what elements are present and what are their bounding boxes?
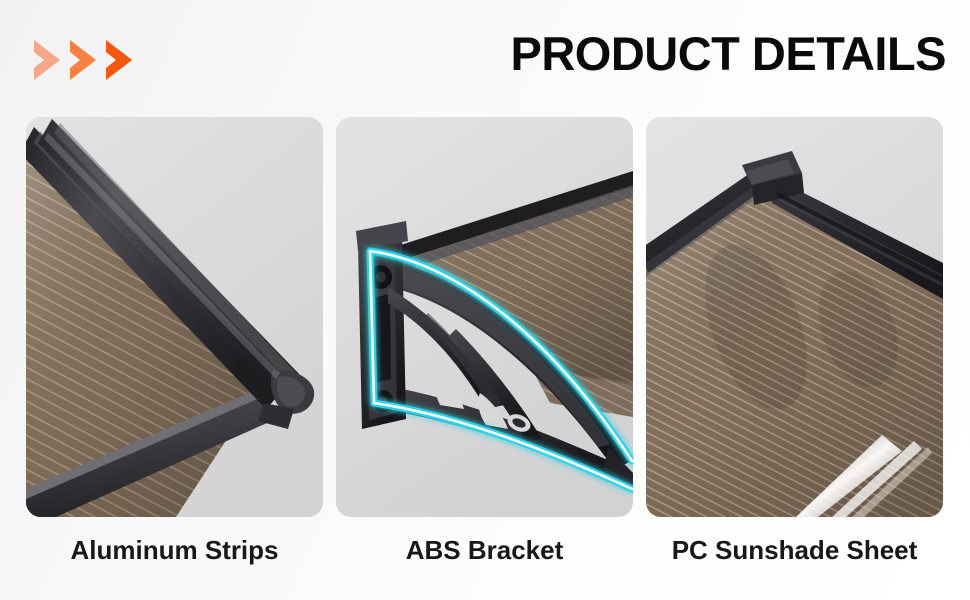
product-details-banner: PRODUCT DETAILS [0,0,970,600]
caption-abs-bracket: ABS Bracket [336,527,633,573]
detail-panel-abs-bracket[interactable] [336,117,633,517]
caption-pc-sunshade-sheet: PC Sunshade Sheet [646,527,943,573]
chevron-right-icon [102,36,146,84]
detail-panel-pc-sunshade-sheet[interactable] [646,117,943,517]
caption-aluminum-strips: Aluminum Strips [26,527,323,573]
abs-bracket-illustration [336,117,633,517]
aluminum-strips-illustration [26,117,323,517]
page-title: PRODUCT DETAILS [510,24,946,84]
panel-captions: Aluminum Strips ABS Bracket PC Sunshade … [26,527,944,573]
chevron-accent-group [30,36,170,86]
product-detail-panels [26,117,944,517]
pc-sunshade-sheet-illustration [646,117,943,517]
detail-panel-aluminum-strips[interactable] [26,117,323,517]
